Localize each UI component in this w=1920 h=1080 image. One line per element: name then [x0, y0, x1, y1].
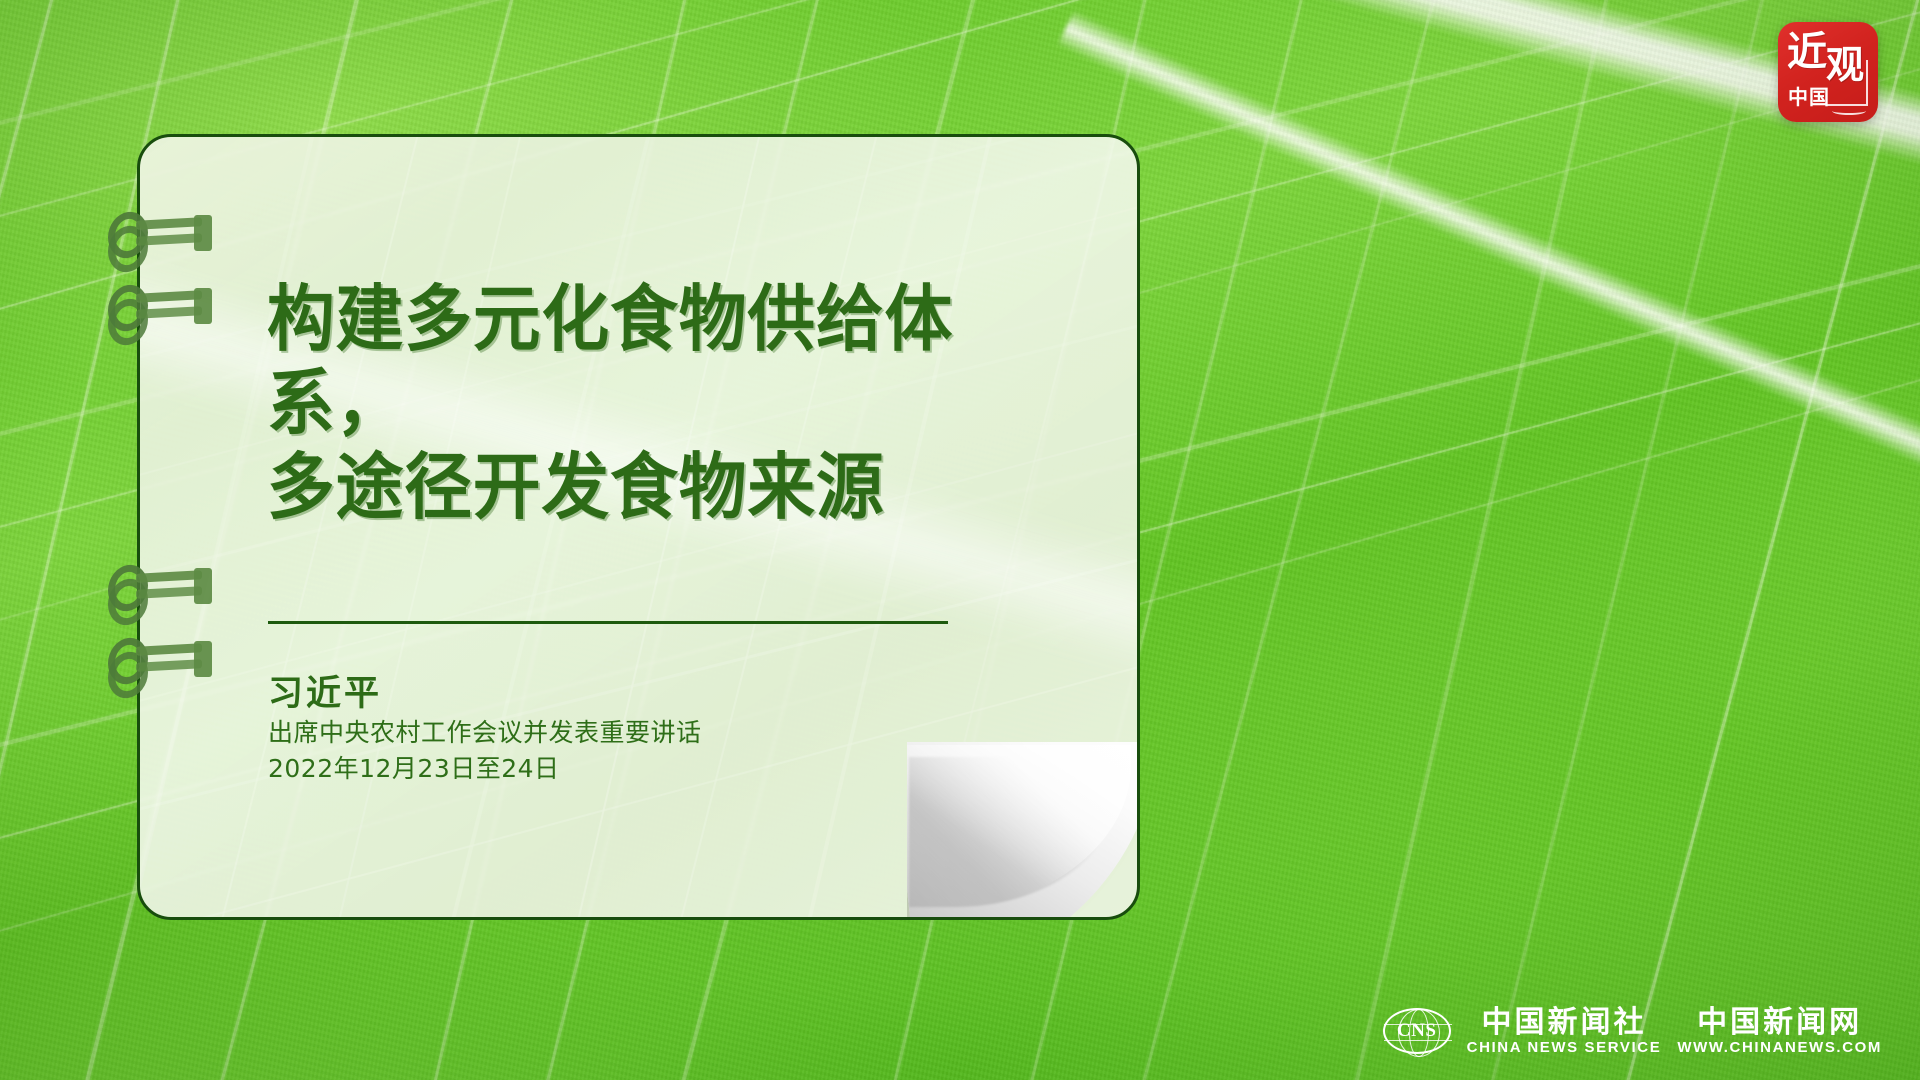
jinguan-zhongguo-badge[interactable]: 近 观 中国: [1778, 22, 1878, 122]
event-meta: 出席中央农村工作会议并发表重要讲话 2022年12月23日至24日: [268, 715, 702, 786]
badge-label-zhongguo: 中国: [1788, 81, 1830, 110]
site-name-cn: 中国新闻网: [1697, 1007, 1862, 1039]
spiral-ring-cap: [194, 215, 212, 251]
cns-globe-label: CNS: [1395, 1020, 1439, 1042]
chinanews-site-logo: 中国新闻网 WWW.CHINANEWS.COM: [1677, 1007, 1882, 1056]
spiral-ring-cap: [194, 288, 212, 324]
author-name: 习近平: [268, 665, 382, 716]
cns-globe-icon: CNS: [1383, 1008, 1451, 1054]
site-url-en: WWW.CHINANEWS.COM: [1677, 1039, 1882, 1056]
badge-wave-decoration: [1832, 107, 1866, 115]
quote-card: 构建多元化食物供给体系， 多途径开发食物来源 习近平 出席中央农村工作会议并发表…: [137, 134, 1140, 920]
agency-name-en: CHINA NEWS SERVICE: [1467, 1039, 1662, 1056]
footer-logos: CNS 中国新闻社 CHINA NEWS SERVICE 中国新闻网 WWW.C…: [1383, 1007, 1882, 1056]
china-news-service-logo: 中国新闻社 CHINA NEWS SERVICE: [1467, 1007, 1662, 1056]
spiral-ring-cap: [194, 641, 212, 677]
badge-char-jin: 近: [1787, 32, 1827, 72]
page-title: 构建多元化食物供给体系， 多途径开发食物来源: [267, 277, 1085, 530]
badge-frame-decoration: [1826, 60, 1868, 106]
agency-name-cn: 中国新闻社: [1481, 1007, 1646, 1039]
divider: [268, 621, 948, 624]
spiral-ring-cap: [194, 568, 212, 604]
